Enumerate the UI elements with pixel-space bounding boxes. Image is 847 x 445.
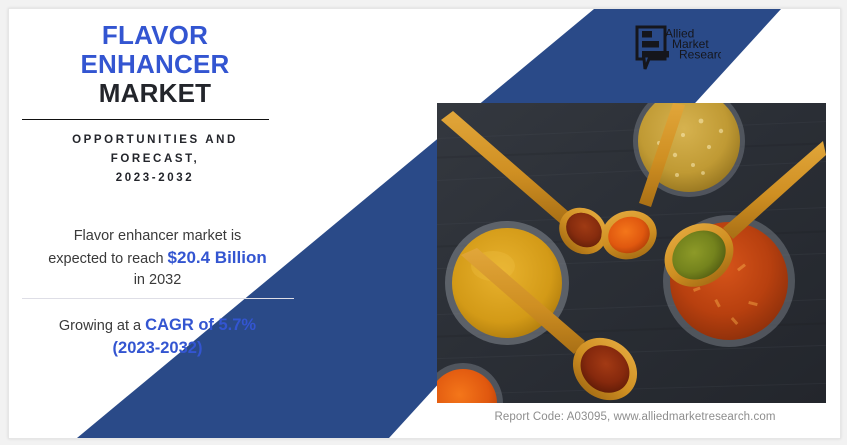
footer-report-code: Report Code: A03095, www.alliedmarketres… xyxy=(439,411,831,423)
page-title: FLAVOR ENHANCER MARKET xyxy=(9,21,301,108)
title-divider xyxy=(22,119,269,120)
stat-one-tail: in 2032 xyxy=(134,272,182,288)
title-line-3: MARKET xyxy=(9,79,301,108)
subtitle-line-3: 2023-2032 xyxy=(9,169,301,188)
stat-two-period: (2023-2032) xyxy=(113,339,203,357)
spices-illustration xyxy=(437,103,826,403)
subtitle-line-1: OPPORTUNITIES AND xyxy=(9,131,301,150)
market-value-stat: Flavor enhancer market is expected to re… xyxy=(15,226,300,291)
speech-bubble-bar-chart-icon: Allied Market Research xyxy=(635,25,721,73)
cagr-stat: Growing at a CAGR of 5.7% (2023-2032) xyxy=(15,314,300,360)
subtitle-line-2: FORECAST, xyxy=(9,150,301,169)
report-card: FLAVOR ENHANCER MARKET OPPORTUNITIES AND… xyxy=(8,8,841,439)
stat-two-lead: Growing at a xyxy=(59,318,145,334)
stat-two-cagr: CAGR of 5.7% xyxy=(145,316,256,334)
title-line-2: ENHANCER xyxy=(9,50,301,79)
svg-text:Research: Research xyxy=(679,48,721,62)
stat-one-value: $20.4 Billion xyxy=(168,248,267,267)
allied-market-research-logo[interactable]: Allied Market Research xyxy=(635,25,721,73)
title-line-1: FLAVOR xyxy=(9,21,301,50)
left-text-column: FLAVOR ENHANCER MARKET OPPORTUNITIES AND… xyxy=(9,9,301,438)
stat-one-lead2: expected to reach xyxy=(48,251,167,267)
infographic-canvas: FLAVOR ENHANCER MARKET OPPORTUNITIES AND… xyxy=(0,0,847,445)
spices-photo xyxy=(437,103,826,403)
report-subtitle: OPPORTUNITIES AND FORECAST, 2023-2032 xyxy=(9,131,301,188)
stat-one-lead: Flavor enhancer market is xyxy=(74,228,242,244)
stat-divider xyxy=(22,298,294,299)
